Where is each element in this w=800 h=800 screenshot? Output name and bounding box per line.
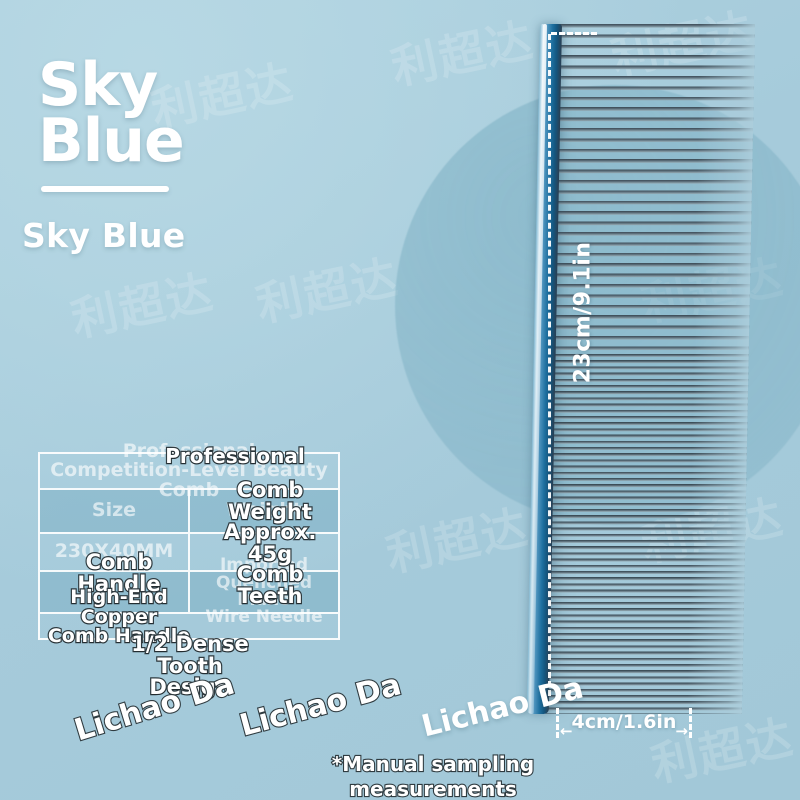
watermark-cn: 利超达 xyxy=(380,491,535,585)
spec-design-overlay: 1/2 Dense Tooth Design xyxy=(120,634,260,699)
measure-length-label: 23cm/9.1in xyxy=(570,242,595,384)
watermark-cn: 利超达 xyxy=(385,4,540,98)
measure-width-label: 4cm/1.6in xyxy=(556,711,692,733)
spec-weight-value-overlay: Approx. 45g xyxy=(200,522,340,565)
product-image: 利超达 利超达 利超达 利超达 利超达 利超达 利超达 利超达 利超达 Sky … xyxy=(0,0,800,800)
measure-top-cap xyxy=(551,32,597,35)
watermark-cn: 利超达 xyxy=(250,241,405,335)
measure-length-line xyxy=(548,34,551,696)
spec-weight-title-overlay: Comb Weight xyxy=(200,480,340,523)
color-subtitle: Sky Blue xyxy=(22,216,185,255)
title-underline xyxy=(41,186,169,192)
spec-size-label-ghost: Size xyxy=(88,501,140,520)
footnote-text: *Manual sampling measurements may have s… xyxy=(268,752,598,800)
title-line-2: Blue xyxy=(38,114,184,170)
page-title: Sky Blue xyxy=(38,58,184,170)
measure-width-group: ← → 4cm/1.6in xyxy=(556,708,692,742)
watermark-brand: Lichao Da xyxy=(236,667,404,744)
table-cell-size-label: Size xyxy=(40,490,190,532)
watermark-cn: 利超达 xyxy=(65,256,220,350)
spec-teeth-title-overlay: Comb Teeth xyxy=(200,564,340,607)
spec-header-overlay: Professional xyxy=(140,446,330,467)
